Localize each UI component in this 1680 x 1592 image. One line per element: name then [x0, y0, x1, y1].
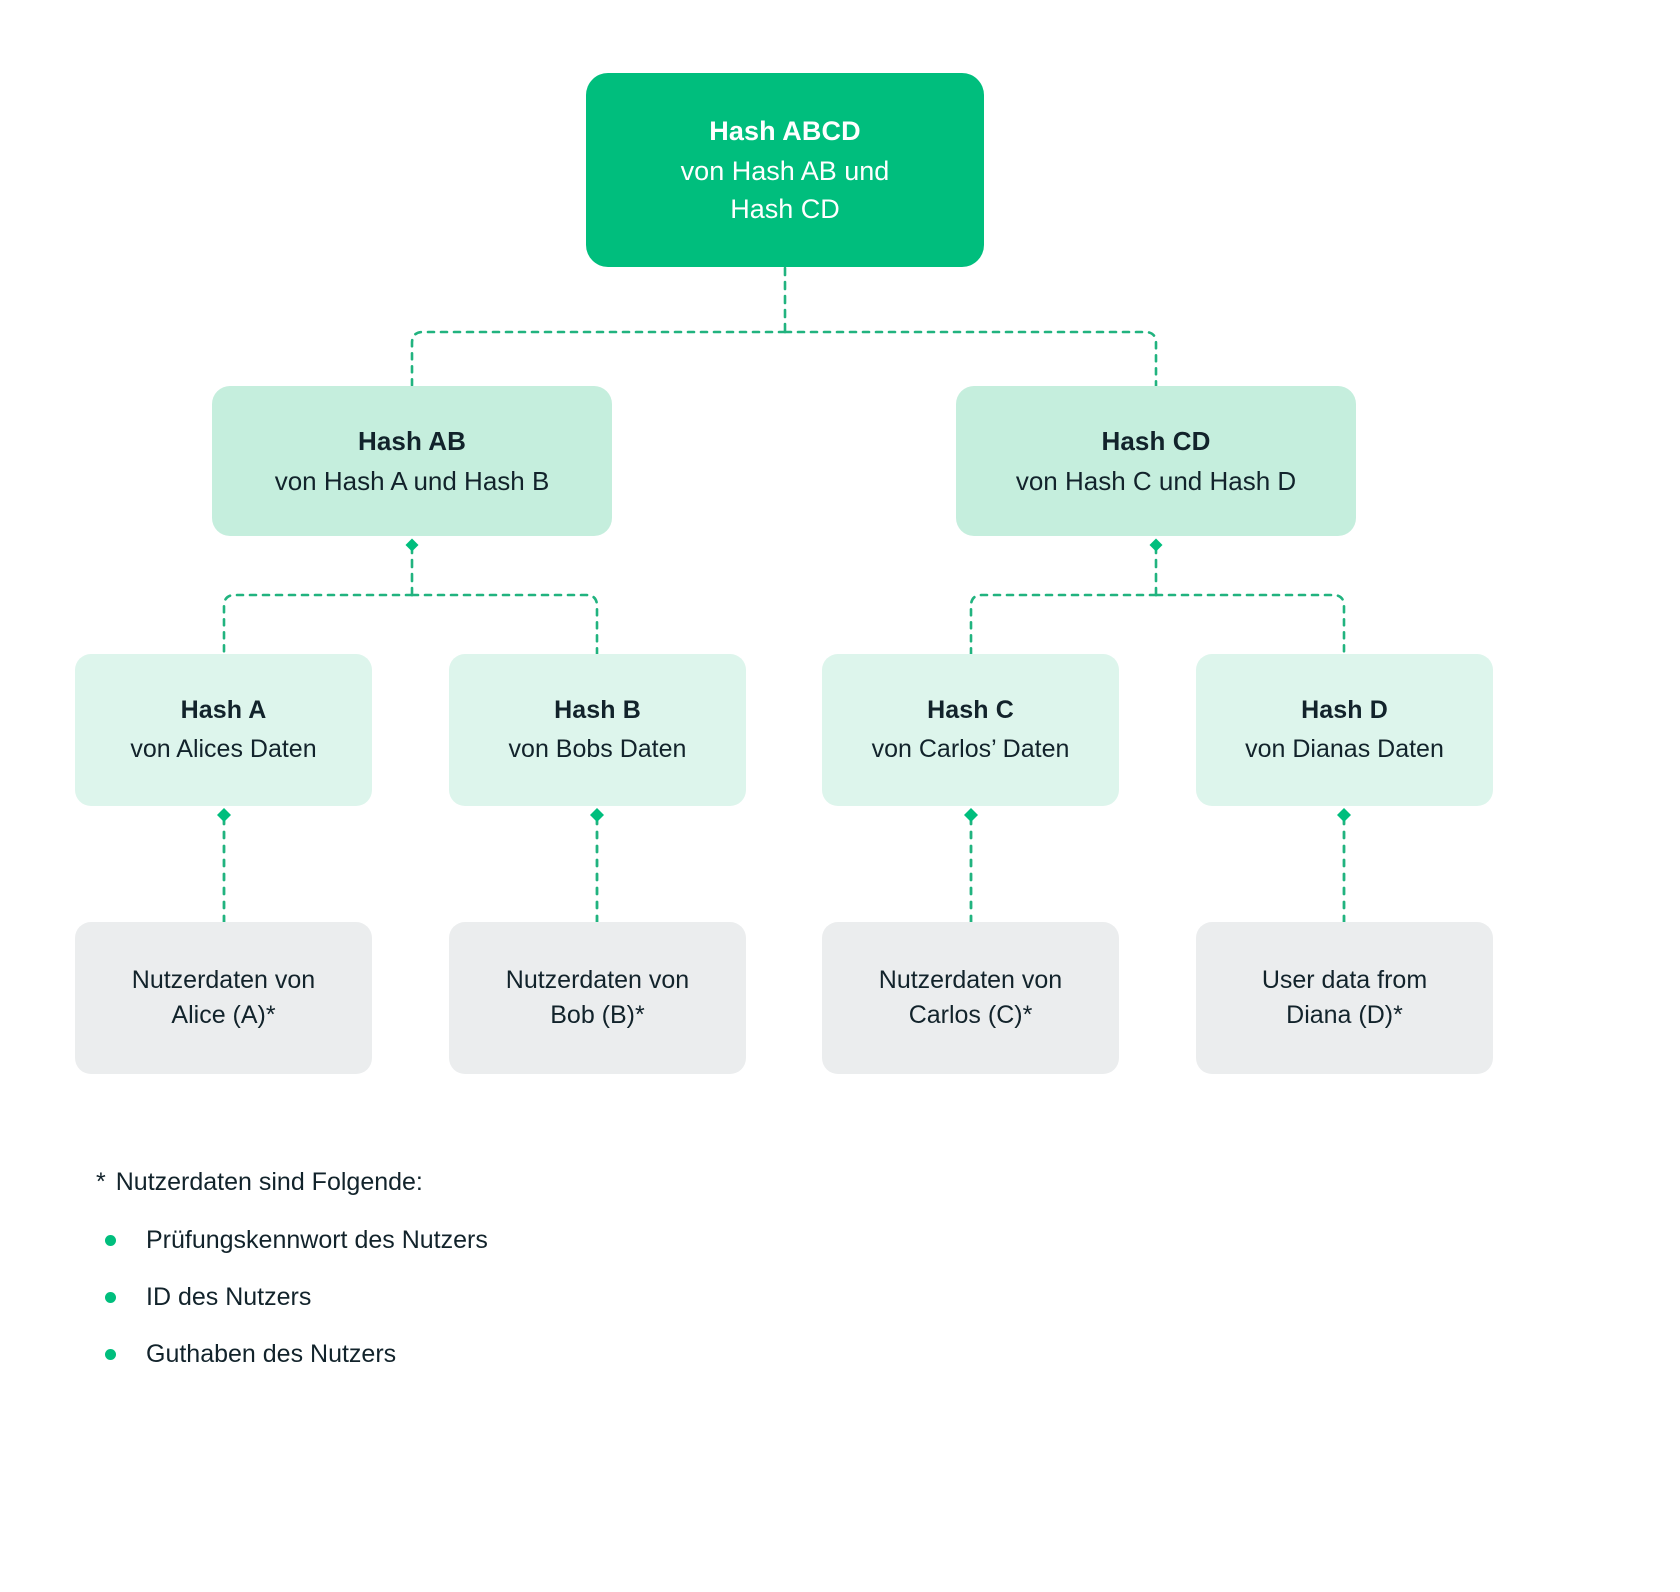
legend: *Nutzerdaten sind Folgende: Prüfungskenn… — [96, 1168, 996, 1369]
legend-asterisk: * — [96, 1168, 106, 1196]
node-hash-abcd-subtitle-line2: Hash CD — [730, 190, 840, 228]
node-userdata-bob-line1: Nutzerdaten von — [506, 963, 689, 999]
bullet-icon — [105, 1292, 116, 1303]
node-hash-a[interactable]: Hash A von Alices Daten — [75, 654, 372, 806]
node-hash-c-subtitle: von Carlos’ Daten — [872, 732, 1070, 768]
merkle-tree-diagram: Hash ABCD von Hash AB und Hash CD Hash A… — [0, 0, 1680, 1592]
bullet-icon — [105, 1349, 116, 1360]
bullet-icon — [105, 1235, 116, 1246]
node-hash-abcd[interactable]: Hash ABCD von Hash AB und Hash CD — [586, 73, 984, 267]
node-hash-abcd-subtitle-line1: von Hash AB und — [681, 152, 890, 190]
node-hash-cd-subtitle: von Hash C und Hash D — [1016, 463, 1296, 500]
node-hash-cd-title: Hash CD — [1101, 423, 1210, 460]
edge-hashcd-to-hashd — [1156, 595, 1344, 654]
node-userdata-bob-line2: Bob (B)* — [550, 998, 644, 1034]
edge-hashab-to-hasha — [224, 595, 412, 654]
node-hash-b-title: Hash B — [554, 693, 641, 729]
node-hash-ab-title: Hash AB — [358, 423, 466, 460]
node-hash-ab[interactable]: Hash AB von Hash A und Hash B — [212, 386, 612, 536]
edge-hashab-to-hashb — [412, 595, 597, 654]
edge-root-to-hashcd — [785, 332, 1156, 386]
node-hash-a-title: Hash A — [181, 693, 267, 729]
node-userdata-bob[interactable]: Nutzerdaten von Bob (B)* — [449, 922, 746, 1074]
legend-title-text: Nutzerdaten sind Folgende: — [116, 1168, 423, 1196]
node-hash-cd[interactable]: Hash CD von Hash C und Hash D — [956, 386, 1356, 536]
node-hash-c-title: Hash C — [927, 693, 1014, 729]
node-hash-d-subtitle: von Dianas Daten — [1245, 732, 1444, 768]
legend-item: Prüfungskennwort des Nutzers — [96, 1226, 996, 1255]
node-userdata-diana[interactable]: User data from Diana (D)* — [1196, 922, 1493, 1074]
node-userdata-carlos-line1: Nutzerdaten von — [879, 963, 1062, 999]
node-hash-c[interactable]: Hash C von Carlos’ Daten — [822, 654, 1119, 806]
node-hash-abcd-title: Hash ABCD — [709, 112, 860, 150]
node-userdata-carlos[interactable]: Nutzerdaten von Carlos (C)* — [822, 922, 1119, 1074]
node-hash-d[interactable]: Hash D von Dianas Daten — [1196, 654, 1493, 806]
node-hash-ab-subtitle: von Hash A und Hash B — [275, 463, 550, 500]
node-hash-b[interactable]: Hash B von Bobs Daten — [449, 654, 746, 806]
legend-item: ID des Nutzers — [96, 1283, 996, 1312]
legend-item: Guthaben des Nutzers — [96, 1340, 996, 1369]
node-userdata-diana-line2: Diana (D)* — [1286, 998, 1403, 1034]
legend-item-label: ID des Nutzers — [146, 1283, 311, 1312]
legend-item-label: Guthaben des Nutzers — [146, 1340, 396, 1369]
node-userdata-carlos-line2: Carlos (C)* — [909, 998, 1033, 1034]
node-hash-d-title: Hash D — [1301, 693, 1388, 729]
node-userdata-alice-line1: Nutzerdaten von — [132, 963, 315, 999]
edge-root-to-hashab — [412, 332, 785, 386]
legend-title: *Nutzerdaten sind Folgende: — [96, 1168, 996, 1197]
edge-hashcd-to-hashc — [971, 595, 1156, 654]
legend-item-label: Prüfungskennwort des Nutzers — [146, 1226, 488, 1255]
node-userdata-alice[interactable]: Nutzerdaten von Alice (A)* — [75, 922, 372, 1074]
node-userdata-alice-line2: Alice (A)* — [171, 998, 275, 1034]
node-userdata-diana-line1: User data from — [1262, 963, 1427, 999]
node-hash-b-subtitle: von Bobs Daten — [509, 732, 687, 768]
node-hash-a-subtitle: von Alices Daten — [130, 732, 316, 768]
